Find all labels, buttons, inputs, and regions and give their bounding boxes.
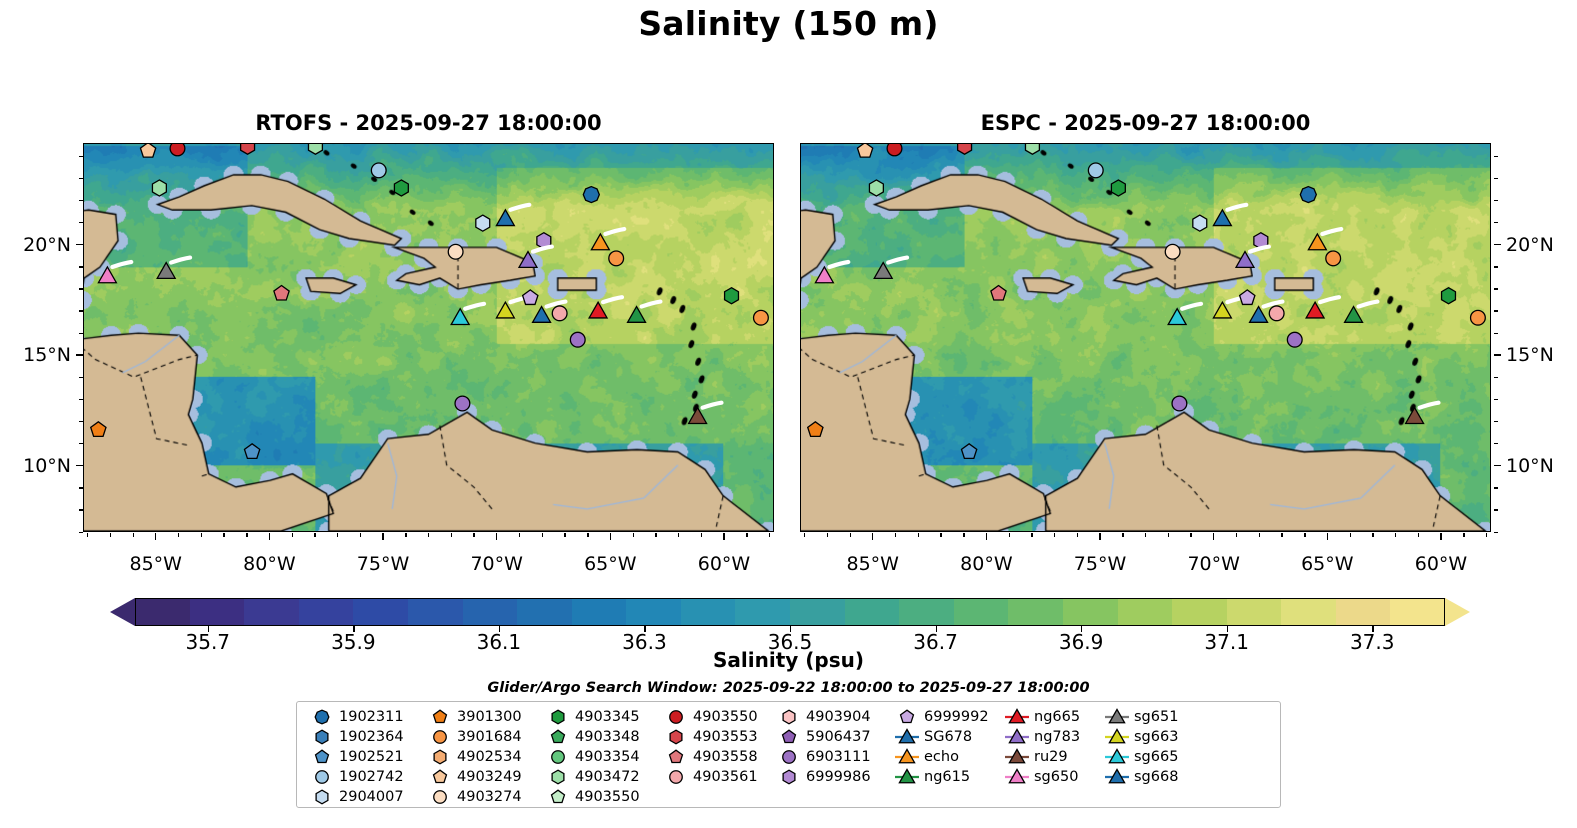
y-minor-tick	[1494, 532, 1498, 533]
legend-item[interactable]: 1902364	[305, 727, 423, 747]
map-marker[interactable]	[1326, 251, 1341, 266]
map-marker[interactable]	[448, 244, 463, 259]
x-minor-tick	[1054, 533, 1055, 537]
x-minor-tick	[678, 533, 679, 537]
x-minor-tick	[1190, 533, 1191, 537]
legend-column: ng665ng783ru29sg650	[1000, 707, 1100, 787]
x-minor-tick	[519, 533, 520, 537]
map-marker[interactable]	[808, 422, 823, 437]
x-minor-tick	[110, 533, 111, 537]
legend-item[interactable]: ru29	[1000, 747, 1100, 767]
page-title: Salinity (150 m)	[0, 4, 1577, 43]
legend-label: echo	[924, 749, 959, 765]
x-minor-tick	[701, 533, 702, 537]
legend-marker-icon	[423, 707, 457, 727]
map-marker[interactable]	[1287, 332, 1302, 347]
legend-item[interactable]: ng615	[890, 767, 1000, 787]
legend-item[interactable]: sg665	[1100, 747, 1200, 767]
legend-label: ng783	[1034, 729, 1080, 745]
legend-marker-icon	[659, 727, 693, 747]
legend-item[interactable]: 5906437	[772, 727, 890, 747]
x-minor-tick	[1350, 533, 1351, 537]
legend-marker-icon	[1000, 727, 1034, 747]
map-marker[interactable]	[874, 263, 892, 279]
map-marker[interactable]	[1111, 180, 1125, 196]
map-marker[interactable]	[308, 144, 322, 154]
x-minor-tick	[564, 533, 565, 537]
glider-track	[605, 229, 624, 234]
glider-track	[171, 258, 190, 263]
x-minor-tick	[292, 533, 293, 537]
x-minor-tick	[87, 533, 88, 537]
legend-marker-icon	[305, 787, 339, 807]
map-marker[interactable]	[570, 332, 585, 347]
legend-item[interactable]: 4903472	[541, 767, 659, 787]
glider-track	[888, 258, 907, 263]
map-panel-rtofs[interactable]	[83, 143, 774, 532]
y-minor-tick	[1494, 200, 1498, 201]
legend-item[interactable]: 6903111	[772, 747, 890, 767]
map-marker[interactable]	[857, 144, 872, 157]
legend-label: 2904007	[339, 789, 404, 805]
map-marker[interactable]	[1165, 244, 1180, 259]
y-minor-tick	[1494, 266, 1498, 267]
legend-label: 3901300	[457, 709, 522, 725]
y-tick-mark	[1494, 244, 1501, 245]
legend-label: 6999992	[924, 709, 989, 725]
legend-marker-icon	[659, 707, 693, 727]
x-minor-tick	[542, 533, 543, 537]
colorbar-frame	[135, 598, 1445, 626]
legend-label: 5906437	[806, 729, 871, 745]
x-tick-label: 85°W	[847, 553, 899, 575]
map-marker[interactable]	[689, 408, 707, 424]
legend-label: sg663	[1134, 729, 1178, 745]
map-marker[interactable]	[1213, 210, 1231, 226]
x-minor-tick	[337, 533, 338, 537]
legend-label: SG678	[924, 729, 972, 745]
legend-label: ru29	[1034, 749, 1068, 765]
map-marker[interactable]	[496, 210, 514, 226]
map-marker[interactable]	[887, 144, 902, 156]
x-minor-tick	[1009, 533, 1010, 537]
legend-marker-icon	[541, 727, 575, 747]
x-tick-label: 85°W	[130, 553, 182, 575]
map-marker[interactable]	[241, 144, 255, 154]
x-tick-mark	[1440, 533, 1441, 540]
legend-marker-icon	[305, 747, 339, 767]
legend-item[interactable]: 4903561	[659, 767, 772, 787]
legend-marker-icon	[305, 727, 339, 747]
x-minor-tick	[918, 533, 919, 537]
glider-track	[1420, 403, 1439, 408]
legend-marker-icon	[772, 767, 806, 787]
legend-marker-icon	[1100, 767, 1134, 787]
colorbar: 35.735.936.136.336.536.736.937.137.3	[110, 598, 1470, 626]
y-tick-label: 20°N	[1506, 234, 1554, 256]
legend-marker-icon	[423, 747, 457, 767]
x-minor-tick	[963, 533, 964, 537]
legend-marker-icon	[1000, 767, 1034, 787]
legend-item[interactable]: 4903354	[541, 747, 659, 767]
legend-label: 4903550	[693, 709, 758, 725]
legend-marker-icon	[541, 747, 575, 767]
map-marker[interactable]	[1308, 234, 1326, 250]
map-marker[interactable]	[1172, 396, 1187, 411]
glider-track	[1250, 247, 1269, 252]
y-tick-mark	[1494, 354, 1501, 355]
map-marker[interactable]	[1025, 144, 1039, 154]
legend-item[interactable]: 2904007	[305, 787, 423, 807]
x-minor-tick	[1031, 533, 1032, 537]
x-minor-tick	[133, 533, 134, 537]
legend-label: 1902364	[339, 729, 404, 745]
legend-column: 4903550490355349035584903561	[659, 707, 772, 787]
map-marker[interactable]	[170, 144, 185, 156]
x-tick-mark	[1099, 533, 1100, 540]
legend-marker-icon	[890, 747, 924, 767]
map-marker[interactable]	[1213, 302, 1231, 318]
legend-item[interactable]: echo	[890, 747, 1000, 767]
legend-item[interactable]: 3901684	[423, 727, 541, 747]
x-minor-tick	[428, 533, 429, 537]
legend-item[interactable]: 4903348	[541, 727, 659, 747]
legend-label: 6903111	[806, 749, 871, 765]
x-minor-tick	[314, 533, 315, 537]
legend-marker-icon	[1000, 707, 1034, 727]
legend-label: 4903274	[457, 789, 522, 805]
x-minor-tick	[201, 533, 202, 537]
y-minor-tick	[1494, 288, 1498, 289]
map-marker[interactable]	[394, 180, 408, 196]
map-marker[interactable]	[91, 422, 106, 437]
legend-column: 19023111902364190252119027422904007	[305, 707, 423, 807]
glider-track	[829, 262, 848, 267]
map-marker[interactable]	[869, 180, 883, 196]
legend-item[interactable]: sg650	[1000, 767, 1100, 787]
x-tick-label: 75°W	[1074, 553, 1126, 575]
map-marker[interactable]	[1406, 408, 1424, 424]
panel-title-rtofs: RTOFS - 2025-09-27 18:00:00	[83, 111, 774, 135]
legend-label: 4902534	[457, 749, 522, 765]
marker-layer-espc	[801, 144, 1490, 531]
legend-item[interactable]: 6999986	[772, 767, 890, 787]
y-tick-label: 10°N	[1506, 455, 1554, 477]
legend-item[interactable]: 3901300	[423, 707, 541, 727]
x-minor-tick	[1486, 533, 1487, 537]
x-minor-tick	[587, 533, 588, 537]
figure-root: Salinity (150 m) RTOFS - 2025-09-27 18:0…	[0, 0, 1577, 828]
map-marker[interactable]	[1236, 252, 1254, 268]
legend-item[interactable]: 4903558	[659, 747, 772, 767]
x-tick-label: 80°W	[243, 553, 295, 575]
legend-item[interactable]: 4903550	[659, 707, 772, 727]
glider-track	[1227, 205, 1246, 210]
legend-item[interactable]: SG678	[890, 727, 1000, 747]
glider-track	[1359, 302, 1378, 307]
legend-column: 39013003901684490253449032494903274	[423, 707, 541, 807]
legend-label: 1902311	[339, 709, 404, 725]
x-tick-mark	[986, 533, 987, 540]
x-minor-tick	[246, 533, 247, 537]
map-marker[interactable]	[754, 310, 769, 325]
y-minor-tick	[1494, 487, 1498, 488]
glider-track	[642, 302, 661, 307]
y-minor-tick	[79, 509, 83, 510]
legend-label: 4903561	[693, 769, 758, 785]
x-minor-tick	[746, 533, 747, 537]
legend-marker-icon	[423, 787, 457, 807]
legend-marker-icon	[305, 707, 339, 727]
x-minor-tick	[1418, 533, 1419, 537]
legend-marker-icon	[541, 707, 575, 727]
legend-column: 4903904590643769031116999986	[772, 707, 890, 787]
legend-marker-icon	[1000, 747, 1034, 767]
x-minor-tick	[633, 533, 634, 537]
legend-marker-icon	[1100, 727, 1134, 747]
map-marker[interactable]	[152, 180, 166, 196]
y-minor-tick	[79, 333, 83, 334]
x-minor-tick	[178, 533, 179, 537]
y-tick-label: 15°N	[1506, 344, 1554, 366]
x-minor-tick	[827, 533, 828, 537]
legend-marker-icon	[890, 707, 924, 727]
legend-item[interactable]: 4903345	[541, 707, 659, 727]
legend-column: sg651sg663sg665sg668	[1100, 707, 1200, 787]
map-marker[interactable]	[958, 144, 972, 154]
y-minor-tick	[1494, 399, 1498, 400]
map-marker[interactable]	[519, 252, 537, 268]
map-marker[interactable]	[815, 267, 833, 283]
legend-label: ng615	[924, 769, 970, 785]
glider-track	[112, 262, 131, 267]
legend-item[interactable]: 4903274	[423, 787, 541, 807]
map-marker[interactable]	[589, 302, 607, 318]
map-marker[interactable]	[1240, 290, 1255, 305]
map-marker[interactable]	[628, 307, 646, 323]
legend-marker-icon	[890, 767, 924, 787]
y-minor-tick	[1494, 156, 1498, 157]
x-tick-mark	[496, 533, 497, 540]
x-minor-tick	[360, 533, 361, 537]
glider-track	[465, 304, 484, 309]
map-marker[interactable]	[1193, 215, 1207, 231]
y-axis-right: 10°N15°N20°N	[1494, 143, 1574, 532]
map-marker[interactable]	[244, 444, 259, 459]
y-tick-mark	[1494, 465, 1501, 466]
x-minor-tick	[451, 533, 452, 537]
legend-label: 4903354	[575, 749, 640, 765]
y-minor-tick	[79, 443, 83, 444]
y-minor-tick	[1494, 222, 1498, 223]
legend-label: sg650	[1034, 769, 1078, 785]
x-tick-label: 70°W	[470, 553, 522, 575]
x-minor-tick	[1236, 533, 1237, 537]
map-marker[interactable]	[98, 267, 116, 283]
x-minor-tick	[769, 533, 770, 537]
x-tick-mark	[872, 533, 873, 540]
legend-marker-icon	[890, 727, 924, 747]
x-tick-label: 60°W	[1415, 553, 1467, 575]
legend-label: 1902742	[339, 769, 404, 785]
legend-item[interactable]: sg668	[1100, 767, 1200, 787]
y-minor-tick	[79, 222, 83, 223]
legend-item[interactable]: 4902534	[423, 747, 541, 767]
legend-item[interactable]: 4903550	[541, 787, 659, 807]
x-minor-tick	[1077, 533, 1078, 537]
legend-column: 49033454903348490335449034724903550	[541, 707, 659, 807]
glider-track	[603, 297, 622, 302]
x-minor-tick	[940, 533, 941, 537]
x-tick-label: 80°W	[960, 553, 1012, 575]
legend-marker-icon	[1100, 707, 1134, 727]
x-minor-tick	[1168, 533, 1169, 537]
legend-marker-icon	[1100, 747, 1134, 767]
y-tick-mark	[76, 244, 83, 245]
x-minor-tick	[655, 533, 656, 537]
map-marker[interactable]	[533, 307, 551, 323]
glider-track	[547, 302, 566, 307]
colorbar-extend-min	[110, 598, 135, 626]
legend-label: 4903553	[693, 729, 758, 745]
x-minor-tick	[1304, 533, 1305, 537]
x-tick-mark	[155, 533, 156, 540]
x-tick-label: 65°W	[1301, 553, 1353, 575]
glider-track	[510, 205, 529, 210]
x-tick-label: 65°W	[584, 553, 636, 575]
legend-label: 4903558	[693, 749, 758, 765]
legend-item[interactable]: sg651	[1100, 707, 1200, 727]
x-tick-mark	[269, 533, 270, 540]
glider-track	[1320, 297, 1339, 302]
y-minor-tick	[79, 156, 83, 157]
legend-marker-icon	[423, 727, 457, 747]
y-minor-tick	[1494, 509, 1498, 510]
y-minor-tick	[79, 487, 83, 488]
y-minor-tick	[1494, 377, 1498, 378]
x-axis-rtofs: 85°W80°W75°W70°W65°W60°W	[83, 533, 774, 567]
y-minor-tick	[79, 532, 83, 533]
y-minor-tick	[1494, 443, 1498, 444]
y-minor-tick	[79, 377, 83, 378]
x-minor-tick	[1259, 533, 1260, 537]
y-tick-mark	[76, 354, 83, 355]
map-marker[interactable]	[1250, 307, 1268, 323]
legend-marker-icon	[541, 787, 575, 807]
y-minor-tick	[1494, 178, 1498, 179]
map-marker[interactable]	[157, 263, 175, 279]
legend-item[interactable]: 6999992	[890, 707, 1000, 727]
x-minor-tick	[804, 533, 805, 537]
y-axis-left: 10°N15°N20°N	[3, 143, 83, 532]
legend-item[interactable]: 1902311	[305, 707, 423, 727]
map-marker[interactable]	[552, 306, 567, 321]
map-marker[interactable]	[991, 285, 1006, 300]
legend-marker-icon	[305, 767, 339, 787]
map-marker[interactable]	[274, 285, 289, 300]
x-minor-tick	[1122, 533, 1123, 537]
legend-marker-icon	[772, 747, 806, 767]
legend-item[interactable]: 4903553	[659, 727, 772, 747]
y-minor-tick	[79, 310, 83, 311]
glider-track	[1322, 229, 1341, 234]
map-marker[interactable]	[591, 234, 609, 250]
map-marker[interactable]	[1088, 163, 1103, 178]
x-minor-tick	[1281, 533, 1282, 537]
x-minor-tick	[223, 533, 224, 537]
legend-label: 3901684	[457, 729, 522, 745]
x-minor-tick	[895, 533, 896, 537]
map-marker[interactable]	[455, 396, 470, 411]
map-marker[interactable]	[609, 251, 624, 266]
legend[interactable]: 1902311190236419025211902742290400739013…	[296, 701, 1281, 808]
y-minor-tick	[79, 421, 83, 422]
map-marker[interactable]	[1471, 310, 1486, 325]
x-minor-tick	[1145, 533, 1146, 537]
map-marker[interactable]	[140, 144, 155, 157]
map-marker[interactable]	[1306, 302, 1324, 318]
map-marker[interactable]	[371, 163, 386, 178]
legend-label: sg651	[1134, 709, 1178, 725]
x-tick-mark	[1327, 533, 1328, 540]
map-marker[interactable]	[1269, 306, 1284, 321]
colorbar-extend-max	[1445, 598, 1470, 626]
colorbar-label: Salinity (psu)	[0, 648, 1577, 672]
y-tick-label: 20°N	[23, 234, 71, 256]
map-marker[interactable]	[1345, 307, 1363, 323]
legend-marker-icon	[772, 727, 806, 747]
y-minor-tick	[79, 200, 83, 201]
legend-item[interactable]: 1902742	[305, 767, 423, 787]
legend-label: 4903472	[575, 769, 640, 785]
legend-item[interactable]: 4903249	[423, 767, 541, 787]
x-tick-label: 75°W	[357, 553, 409, 575]
x-tick-label: 70°W	[1187, 553, 1239, 575]
map-marker[interactable]	[725, 288, 739, 304]
map-marker[interactable]	[523, 290, 538, 305]
x-tick-mark	[610, 533, 611, 540]
y-tick-mark	[76, 465, 83, 466]
map-marker[interactable]	[583, 187, 599, 203]
legend-item[interactable]: 4903904	[772, 707, 890, 727]
legend-label: 4903345	[575, 709, 640, 725]
legend-item[interactable]: ng783	[1000, 727, 1100, 747]
x-minor-tick	[405, 533, 406, 537]
legend-item[interactable]: sg663	[1100, 727, 1200, 747]
x-tick-mark	[382, 533, 383, 540]
glider-track	[533, 247, 552, 252]
y-minor-tick	[79, 399, 83, 400]
legend-marker-icon	[772, 707, 806, 727]
map-panel-espc[interactable]	[800, 143, 1491, 532]
legend-marker-icon	[659, 747, 693, 767]
map-marker[interactable]	[1442, 288, 1456, 304]
y-minor-tick	[1494, 333, 1498, 334]
legend-label: 6999986	[806, 769, 871, 785]
map-marker[interactable]	[1168, 309, 1186, 325]
map-marker[interactable]	[476, 215, 490, 231]
marker-layer-rtofs	[84, 144, 773, 531]
x-minor-tick	[850, 533, 851, 537]
panel-title-espc: ESPC - 2025-09-27 18:00:00	[800, 111, 1491, 135]
legend-column: 6999992SG678echong615	[890, 707, 1000, 787]
legend-item[interactable]: 1902521	[305, 747, 423, 767]
map-marker[interactable]	[496, 302, 514, 318]
map-marker[interactable]	[961, 444, 976, 459]
map-marker[interactable]	[1300, 187, 1316, 203]
legend-item[interactable]: ng665	[1000, 707, 1100, 727]
map-marker[interactable]	[451, 309, 469, 325]
